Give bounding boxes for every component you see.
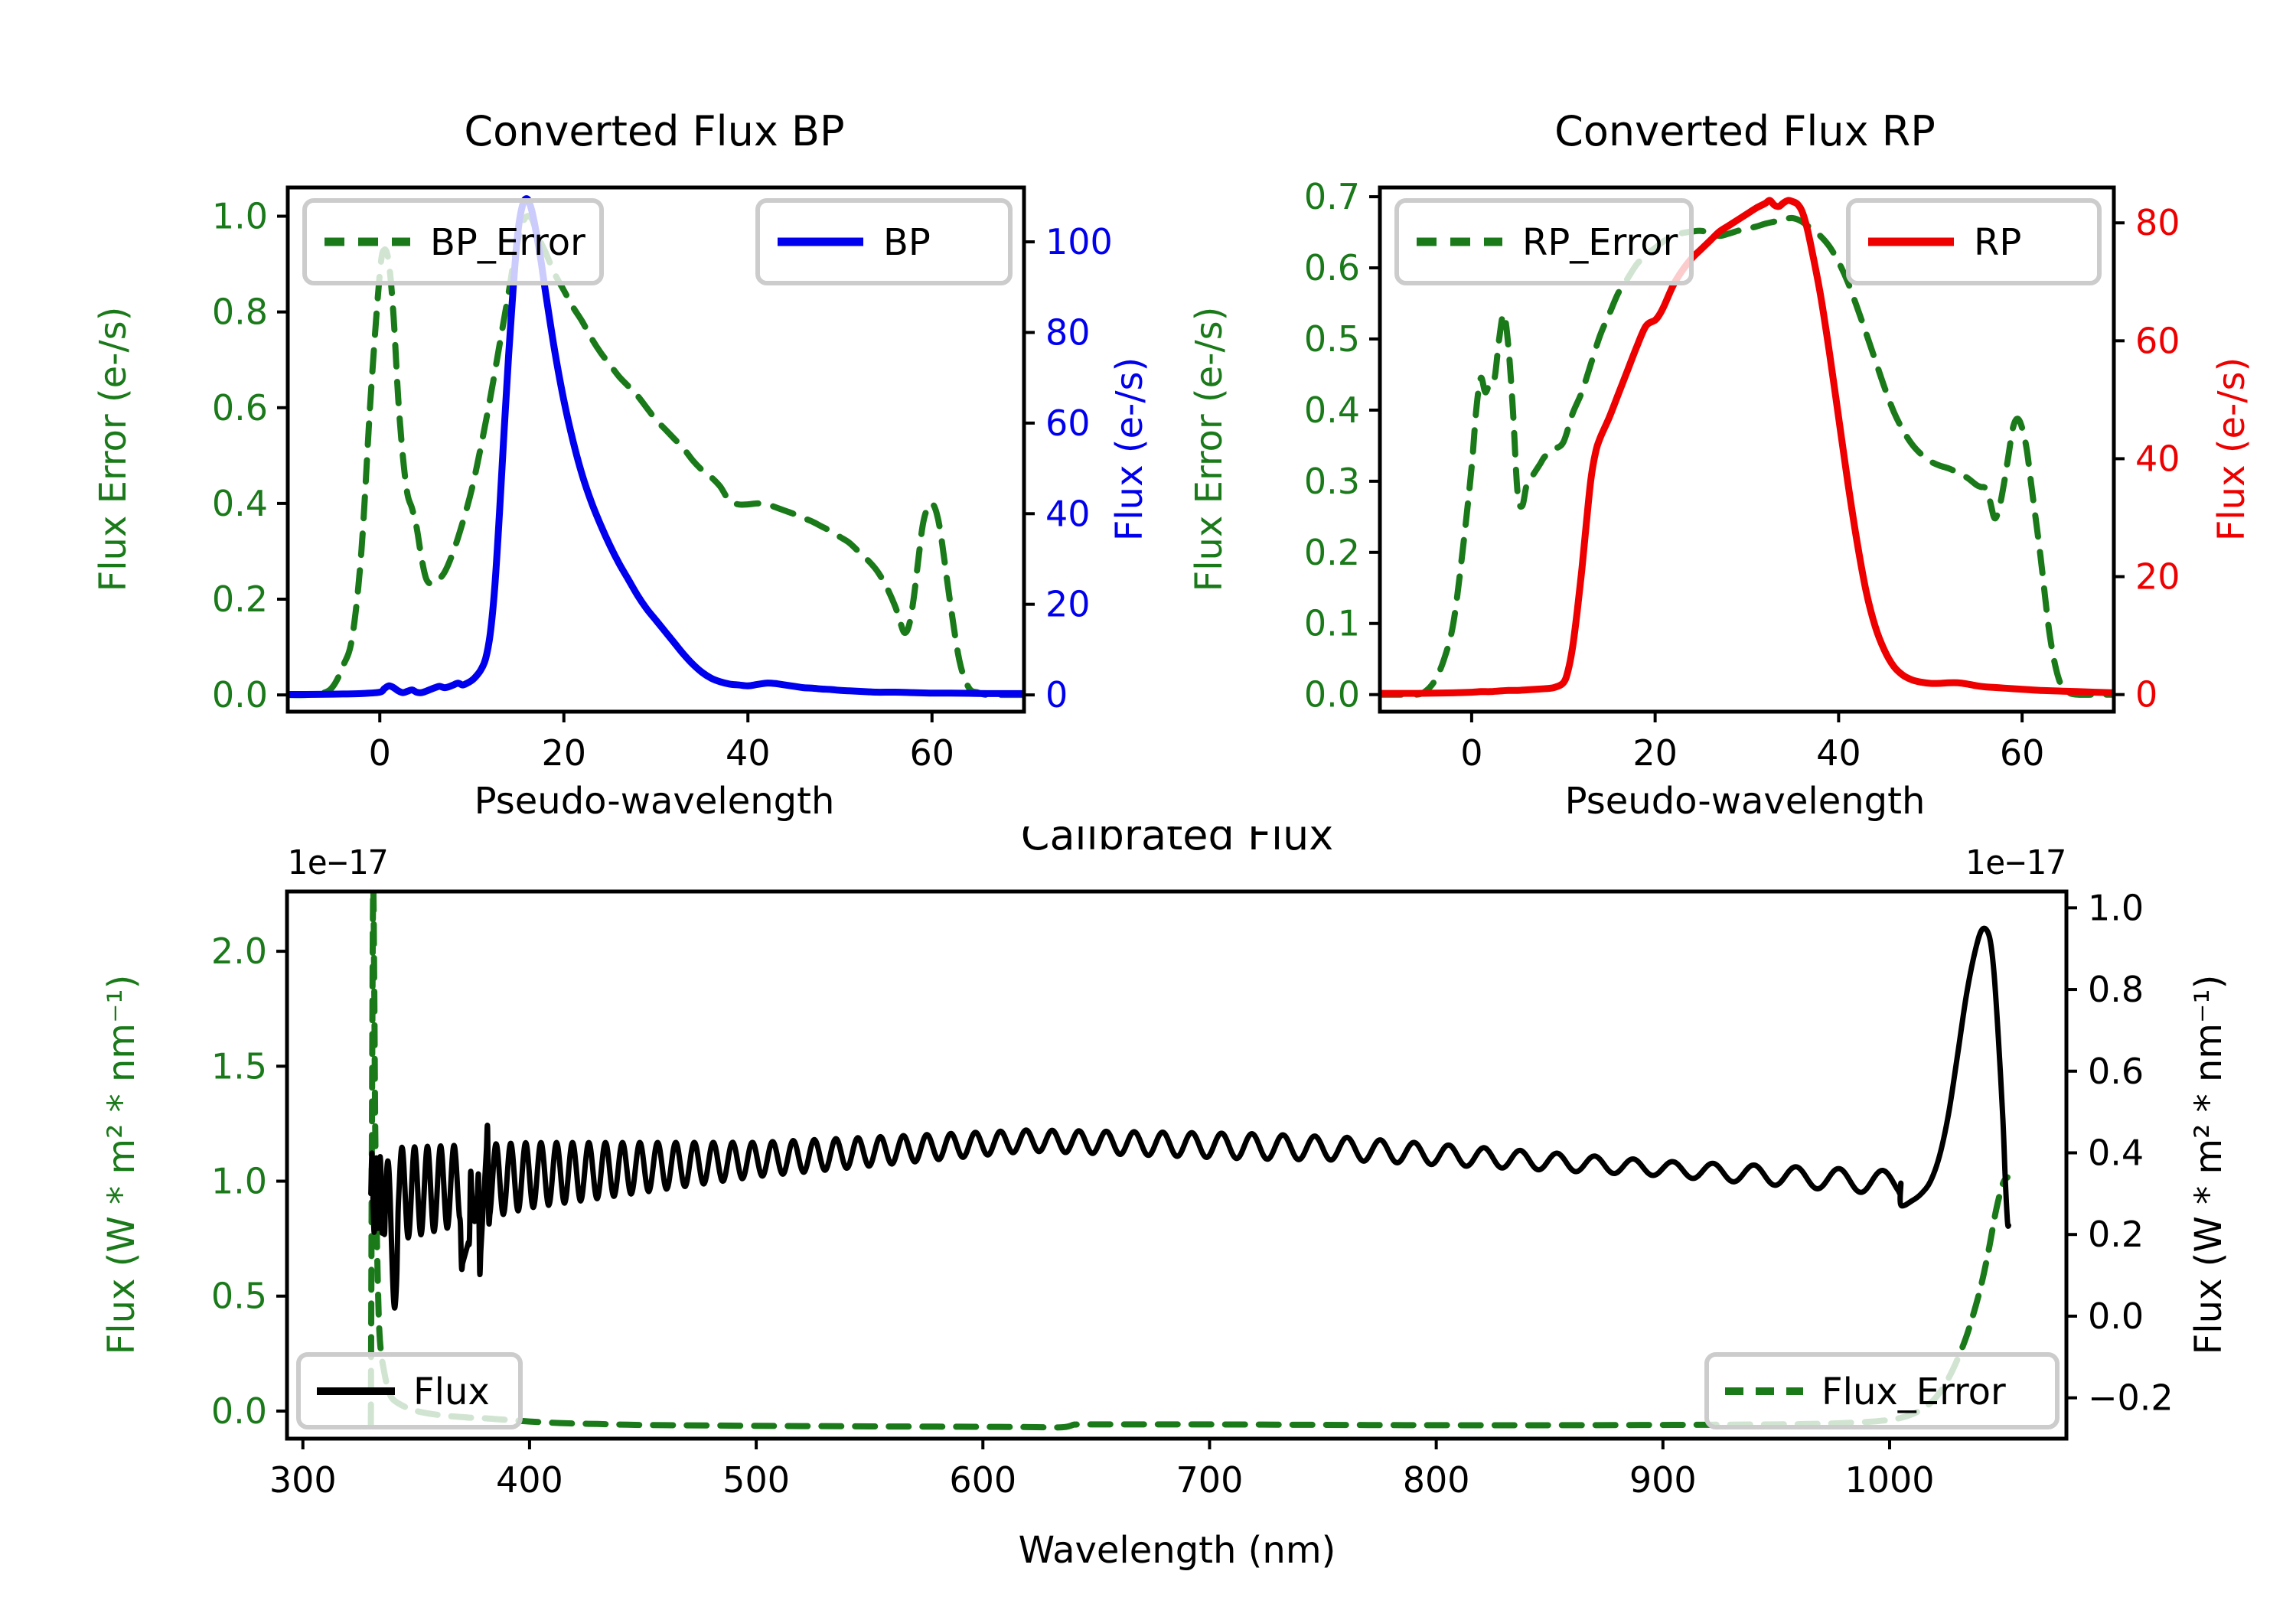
svg-text:2.0: 2.0 <box>211 931 267 972</box>
svg-text:0: 0 <box>1045 674 1068 715</box>
xaxis-title-rp: Pseudo-wavelength <box>1565 780 1926 823</box>
svg-text:900: 900 <box>1629 1459 1697 1501</box>
svg-text:0.6: 0.6 <box>212 387 268 429</box>
yaxis-right-title-bp: Flux (e-/s) <box>1108 357 1148 542</box>
svg-text:800: 800 <box>1403 1459 1470 1501</box>
svg-text:0.4: 0.4 <box>2088 1132 2144 1173</box>
legend-label-rp: RP <box>1974 221 2021 264</box>
matplotlib-figure: Converted Flux BP 02040600.00.20.40.60.8… <box>0 0 2296 1607</box>
svg-text:20: 20 <box>1045 584 1091 625</box>
svg-text:0.2: 0.2 <box>1304 532 1360 573</box>
svg-text:0.4: 0.4 <box>1304 390 1360 431</box>
svg-text:0.6: 0.6 <box>1304 247 1360 288</box>
yaxis-left-title-calibrated: Flux (W * m² * nm⁻¹) <box>100 975 143 1355</box>
yaxis-left-title-rp: Flux Error (e-/s) <box>1188 307 1231 592</box>
svg-text:0.2: 0.2 <box>212 579 268 620</box>
svg-text:0.7: 0.7 <box>1304 176 1360 217</box>
svg-text:0.8: 0.8 <box>2088 969 2144 1010</box>
legend-flux[interactable]: Flux <box>298 1354 520 1427</box>
svg-text:60: 60 <box>1045 403 1091 444</box>
svg-text:600: 600 <box>949 1459 1016 1501</box>
legend-bp[interactable]: BP <box>758 200 1010 283</box>
svg-text:0.5: 0.5 <box>211 1276 267 1317</box>
yaxis-right-offset-calibrated: 1e−17 <box>1965 843 2066 882</box>
svg-text:0.0: 0.0 <box>211 1390 267 1432</box>
panel-title-calibrated: Calibrated Flux <box>1021 826 1333 859</box>
svg-text:300: 300 <box>269 1459 337 1501</box>
xaxis-title-bp: Pseudo-wavelength <box>475 780 835 823</box>
svg-text:0.2: 0.2 <box>2088 1214 2144 1255</box>
series-flux <box>371 928 2009 1308</box>
svg-text:40: 40 <box>1045 493 1091 534</box>
svg-text:1.0: 1.0 <box>212 196 268 237</box>
svg-text:0.1: 0.1 <box>1304 603 1360 644</box>
svg-text:80: 80 <box>2135 202 2180 243</box>
legend-rp[interactable]: RP <box>1848 200 2099 283</box>
legend-label-rp-error: RP_Error <box>1522 221 1678 264</box>
legend-bp-error[interactable]: BP_Error <box>305 200 602 283</box>
svg-text:0.4: 0.4 <box>212 483 268 524</box>
svg-text:0.6: 0.6 <box>2088 1051 2144 1092</box>
svg-text:20: 20 <box>2135 556 2180 598</box>
svg-text:40: 40 <box>726 732 771 774</box>
legend-label-bp: BP <box>883 221 931 264</box>
legend-label-flux-error: Flux_Error <box>1821 1371 2006 1413</box>
svg-text:1.0: 1.0 <box>211 1161 267 1202</box>
svg-text:100: 100 <box>1045 221 1113 262</box>
svg-text:60: 60 <box>2000 732 2045 774</box>
svg-text:60: 60 <box>2135 320 2180 361</box>
svg-text:1.0: 1.0 <box>2088 887 2144 928</box>
yaxis-left-offset-calibrated: 1e−17 <box>287 843 388 882</box>
yaxis-left-title-bp: Flux Error (e-/s) <box>92 307 135 592</box>
svg-text:0: 0 <box>2135 674 2157 715</box>
svg-text:1000: 1000 <box>1844 1459 1934 1501</box>
svg-text:0.8: 0.8 <box>212 292 268 333</box>
svg-text:0.0: 0.0 <box>212 674 268 715</box>
svg-text:0.3: 0.3 <box>1304 461 1360 502</box>
svg-text:−0.2: −0.2 <box>2088 1377 2174 1419</box>
yaxis-right-title-calibrated: Flux (W * m² * nm⁻¹) <box>2187 975 2230 1355</box>
svg-text:0.0: 0.0 <box>1304 674 1360 715</box>
svg-text:60: 60 <box>909 732 954 774</box>
legend-label-flux: Flux <box>413 1371 490 1413</box>
svg-text:20: 20 <box>1632 732 1678 774</box>
svg-text:0.5: 0.5 <box>1304 318 1360 360</box>
svg-text:80: 80 <box>1045 311 1091 353</box>
panel-title-rp: Converted Flux RP <box>1554 107 1936 155</box>
legend-label-bp-error: BP_Error <box>430 221 585 264</box>
svg-text:500: 500 <box>722 1459 790 1501</box>
svg-text:0: 0 <box>369 732 391 774</box>
panel-title-bp: Converted Flux BP <box>464 107 844 155</box>
svg-text:400: 400 <box>496 1459 563 1501</box>
series-rp-error <box>1380 218 2114 695</box>
yaxis-right-title-rp: Flux (e-/s) <box>2210 357 2253 542</box>
svg-text:40: 40 <box>1816 732 1861 774</box>
series-flux-error <box>371 888 2007 1428</box>
panel-calibrated-flux: Calibrated Flux 1e−17 1e−17 300400500600… <box>0 826 2296 1607</box>
legend-flux-error[interactable]: Flux_Error <box>1707 1354 2057 1427</box>
panel-converted-flux-rp: Converted Flux RP 02040600.00.10.20.30.4… <box>1148 0 2296 826</box>
xaxis-title-calibrated: Wavelength (nm) <box>1019 1529 1336 1572</box>
panel-converted-flux-bp: Converted Flux BP 02040600.00.20.40.60.8… <box>0 0 1148 826</box>
svg-text:40: 40 <box>2135 438 2180 479</box>
svg-text:0: 0 <box>1460 732 1482 774</box>
svg-text:1.5: 1.5 <box>211 1045 267 1087</box>
svg-text:0.0: 0.0 <box>2088 1296 2144 1337</box>
svg-text:700: 700 <box>1176 1459 1244 1501</box>
legend-rp-error[interactable]: RP_Error <box>1397 200 1691 283</box>
svg-text:20: 20 <box>541 732 586 774</box>
